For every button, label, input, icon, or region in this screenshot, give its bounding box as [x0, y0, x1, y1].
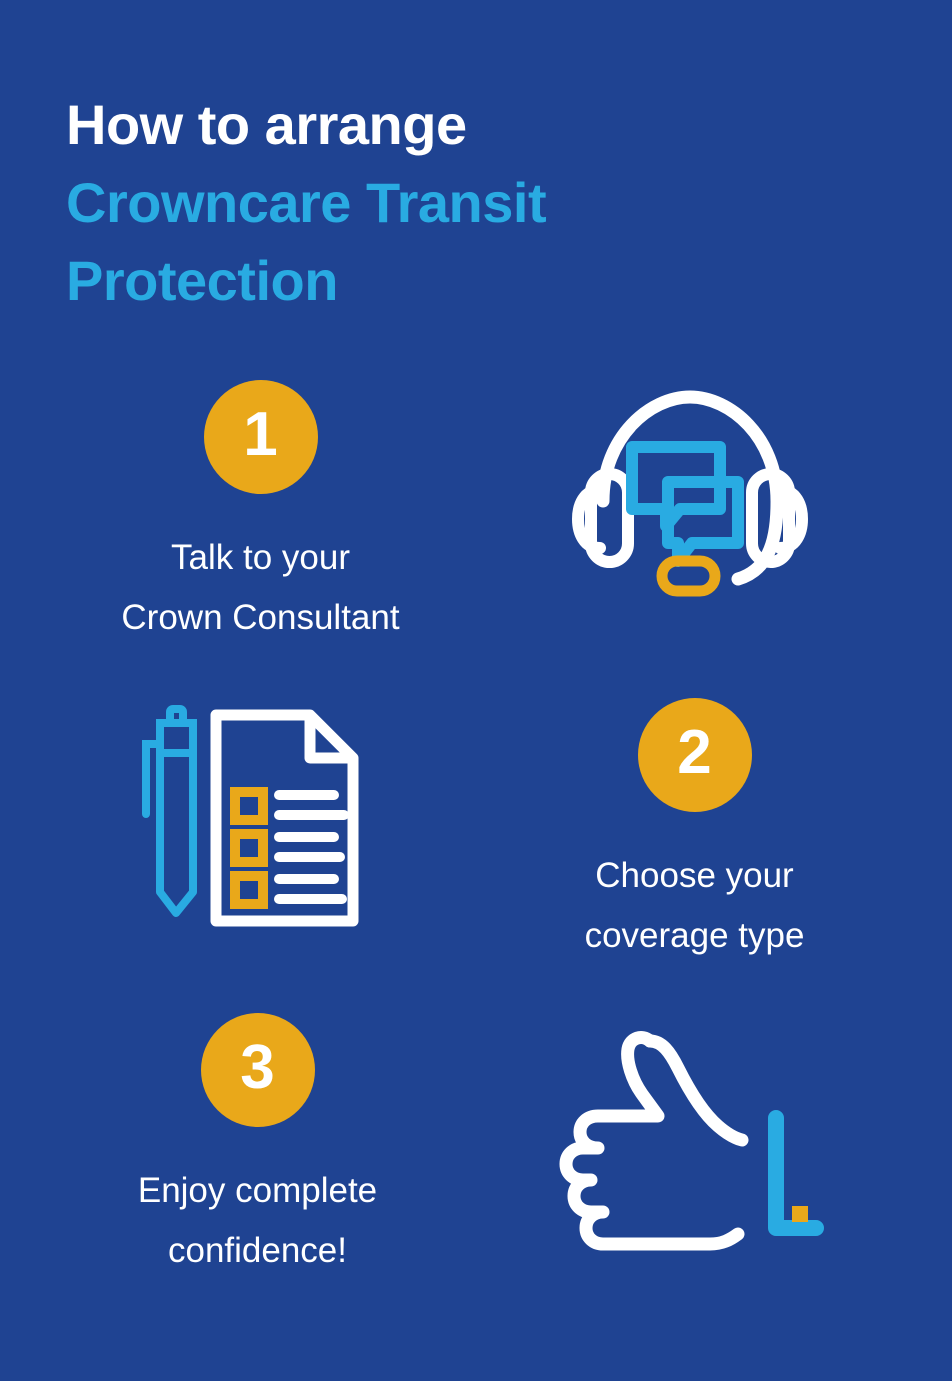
page-title: How to arrange Crowncare Transit Protect…	[66, 86, 826, 320]
headline-line-3: Protection	[66, 242, 826, 320]
step-3-text-line-2: confidence!	[55, 1221, 460, 1281]
document-checklist-pen-icon	[138, 704, 388, 932]
step-2-text-line-1: Choose your	[492, 846, 897, 906]
thumbs-up-icon	[558, 1022, 826, 1258]
headset-chat-icon	[570, 383, 810, 615]
step-2-text-line-2: coverage type	[492, 906, 897, 966]
step-1-number-badge: 1	[204, 380, 318, 494]
step-1-text-line-2: Crown Consultant	[58, 588, 463, 648]
step-2-number-badge: 2	[638, 698, 752, 812]
step-2: 2 Choose your coverage type	[492, 698, 897, 966]
infographic-poster: How to arrange Crowncare Transit Protect…	[0, 0, 952, 1381]
step-3-text-line-1: Enjoy complete	[55, 1161, 460, 1221]
headline-line-2: Crowncare Transit	[66, 164, 826, 242]
step-1-text-line-1: Talk to your	[58, 528, 463, 588]
step-1: 1 Talk to your Crown Consultant	[58, 380, 463, 648]
step-3: 3 Enjoy complete confidence!	[55, 1013, 460, 1281]
step-3-number-badge: 3	[201, 1013, 315, 1127]
headline-line-1: How to arrange	[66, 86, 826, 164]
